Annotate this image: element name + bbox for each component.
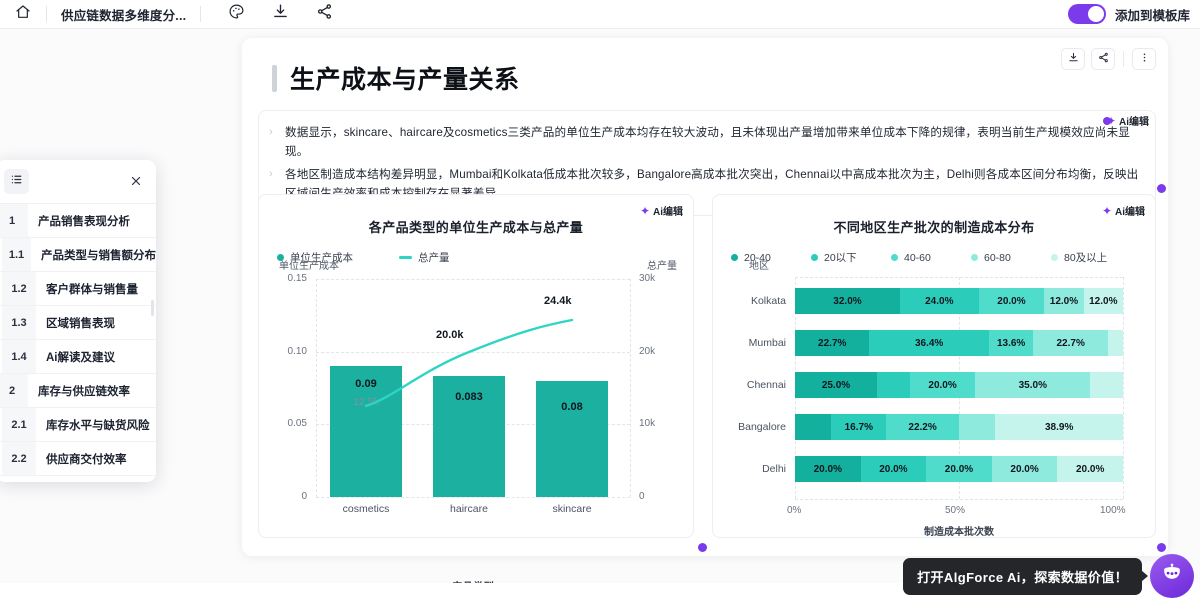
more-icon — [1139, 50, 1150, 68]
sparkle-icon: ✦ — [1102, 205, 1112, 217]
outline-item-2[interactable]: 2 库存与供应链效率 — [0, 374, 156, 408]
stacked-row-kolkata[interactable]: Kolkata 32.0% 24.0% 20.0% 12.0% 12.0% — [795, 288, 1123, 314]
x-tick-0: 0% — [787, 505, 801, 516]
outline-number: 1.2 — [2, 272, 36, 305]
legend-item-40-60[interactable]: 40-60 — [891, 252, 971, 264]
share-icon — [316, 3, 333, 25]
ai-edit-label: Ai编辑 — [1115, 203, 1145, 218]
outline-panel: 1 产品销售表现分析 1.1 产品类型与销售额分布 1.2 客户群体与销售量 1… — [0, 160, 156, 482]
y-tick-right: 20k — [630, 346, 655, 357]
outline-menu-button[interactable] — [4, 169, 29, 194]
share-icon — [1098, 50, 1109, 68]
home-icon — [15, 4, 31, 25]
list-icon — [10, 173, 23, 191]
outline-number: 1.3 — [2, 306, 36, 339]
segment[interactable]: 16.7% — [831, 414, 886, 440]
home-button[interactable] — [0, 4, 46, 25]
y-tick-left: 0 — [301, 491, 316, 502]
legend-item-total-output[interactable]: 总产量 — [399, 250, 450, 265]
sparkle-icon: ✦ — [640, 205, 650, 217]
divider — [1123, 51, 1124, 67]
legend-item-80-plus[interactable]: 80及以上 — [1051, 250, 1107, 265]
y-axis-right-title: 总产量 — [647, 257, 677, 272]
download-icon — [1068, 50, 1079, 68]
legend-dot-icon — [891, 254, 898, 261]
assistant-avatar-button[interactable] — [1150, 554, 1194, 598]
segment[interactable]: 24.0% — [900, 288, 979, 314]
x-axis-title: 制造成本批次数 — [795, 523, 1123, 538]
segment[interactable]: 32.0% — [795, 288, 900, 314]
row-label: Mumbai — [749, 330, 795, 356]
x-tick-skincare: skincare — [522, 503, 622, 515]
outline-label: 区域销售表现 — [36, 315, 115, 331]
legend-dot-icon — [731, 254, 738, 261]
gridline — [1123, 277, 1124, 499]
chart-title: 各产品类型的单位生产成本与总产量 — [259, 217, 693, 236]
legend-dot-icon — [1051, 254, 1058, 261]
legend-dot-icon — [811, 254, 818, 261]
segment[interactable]: 20.0% — [992, 456, 1058, 482]
ai-edit-badge[interactable]: ✦ Ai编辑 — [1106, 113, 1149, 128]
segment[interactable]: 12.0% — [1084, 288, 1123, 314]
row-label: Delhi — [762, 456, 795, 482]
segment[interactable]: 38.9% — [995, 414, 1123, 440]
resize-handle-summary[interactable] — [1103, 117, 1111, 125]
card-download-button[interactable] — [1061, 48, 1085, 70]
ai-edit-label: Ai编辑 — [1119, 113, 1149, 128]
outline-close-button[interactable] — [130, 175, 142, 189]
legend-dot-icon — [971, 254, 978, 261]
robot-icon — [1158, 560, 1186, 593]
page-title: 生产成本与产量关系 — [290, 60, 520, 96]
close-icon — [130, 174, 142, 190]
ai-edit-label: Ai编辑 — [653, 203, 683, 218]
legend-item-60-80[interactable]: 60-80 — [971, 252, 1051, 264]
topbar-icon-group — [201, 5, 333, 23]
outline-number: 2 — [0, 374, 28, 407]
chevron-right-icon[interactable]: › — [263, 165, 279, 184]
outline-label: 产品销售表现分析 — [28, 213, 130, 229]
y-tick-right: 0 — [630, 491, 645, 502]
outline-header — [0, 160, 156, 204]
outline-number: 2.1 — [2, 408, 36, 441]
chart-title: 不同地区生产批次的制造成本分布 — [713, 217, 1155, 236]
chart-panel-production-cost: ✦ Ai编辑 各产品类型的单位生产成本与总产量 单位生产成本 总产量 单位生产成… — [258, 194, 694, 538]
line-series-total-output — [316, 279, 630, 497]
outline-item-1[interactable]: 1 产品销售表现分析 — [0, 204, 156, 238]
y-tick-left: 0.05 — [288, 418, 316, 429]
x-tick-haircare: haircare — [419, 503, 519, 515]
outline-number: 2.2 — [2, 442, 36, 475]
palette-icon — [228, 3, 245, 25]
x-tick-50: 50% — [945, 505, 965, 516]
segment[interactable]: 36.4% — [869, 330, 988, 356]
y-tick-left: 0.15 — [288, 273, 316, 284]
outline-scrollbar[interactable] — [151, 300, 154, 316]
outline-label: 客户群体与销售量 — [36, 281, 138, 297]
card-more-button[interactable] — [1132, 48, 1156, 70]
segment[interactable]: 22.7% — [795, 330, 869, 356]
row-label: Kolkata — [751, 288, 795, 314]
resize-handle-bottom-right[interactable] — [1157, 543, 1166, 552]
ai-edit-badge[interactable]: ✦ Ai编辑 — [640, 203, 683, 218]
chart-plot-area: Kolkata 32.0% 24.0% 20.0% 12.0% 12.0% Mu… — [795, 277, 1123, 499]
add-to-template-toggle[interactable] — [1068, 4, 1106, 24]
segment[interactable] — [959, 414, 995, 440]
legend-label: 60-80 — [984, 252, 1011, 264]
card-share-button[interactable] — [1091, 48, 1115, 70]
outline-item-1-2[interactable]: 1.2 客户群体与销售量 — [0, 272, 156, 306]
legend-label: 80及以上 — [1064, 250, 1107, 265]
summary-text: 数据显示，skincare、haircare及cosmetics三类产品的单位生… — [285, 123, 1141, 161]
y-tick-left: 0.10 — [288, 346, 316, 357]
outline-item-2-2[interactable]: 2.2 供应商交付效率 — [0, 442, 156, 476]
chart-plot-area: 0.15 0.10 0.05 0 30k 20k 10k 0 0.09 12.5… — [316, 279, 630, 497]
segment[interactable]: 13.6% — [989, 330, 1034, 356]
stacked-row-bangalore[interactable]: Bangalore 16.7% 22.2% 38.9% — [795, 414, 1123, 440]
resize-handle-right[interactable] — [1157, 184, 1166, 193]
row-label: Chennai — [747, 372, 795, 398]
outline-label: Ai解读及建议 — [36, 349, 115, 365]
x-tick-cosmetics: cosmetics — [316, 503, 416, 515]
outline-number: 1 — [0, 204, 28, 237]
download-button[interactable] — [271, 5, 289, 23]
add-to-template-label: 添加到模板库 — [1115, 5, 1190, 24]
outline-item-1-1[interactable]: 1.1 产品类型与销售额分布 — [0, 238, 156, 272]
gridline — [795, 277, 1123, 278]
segment[interactable]: 20.0% — [795, 456, 861, 482]
assistant-cta: 打开AlgForce Ai，探索数据价值！ — [903, 554, 1194, 598]
legend-item-under-20[interactable]: 20以下 — [811, 250, 891, 265]
share-button[interactable] — [315, 5, 333, 23]
outline-item-1-4[interactable]: 1.4 Ai解读及建议 — [0, 340, 156, 374]
download-icon — [272, 3, 289, 25]
segment[interactable]: 20.0% — [910, 372, 976, 398]
chevron-right-icon[interactable]: › — [263, 123, 279, 142]
title-accent-bar — [272, 65, 277, 92]
summary-paragraph: › 数据显示，skincare、haircare及cosmetics三类产品的单… — [263, 121, 1141, 163]
segment[interactable]: 20.0% — [979, 288, 1045, 314]
y-tick-right: 10k — [630, 418, 655, 429]
segment[interactable] — [1090, 372, 1123, 398]
segment[interactable]: 12.0% — [1044, 288, 1083, 314]
stacked-row-chennai[interactable]: Chennai 25.0% 20.0% 35.0% — [795, 372, 1123, 398]
gridline — [630, 279, 631, 497]
legend-label: 总产量 — [418, 250, 450, 265]
segment[interactable]: 20.0% — [1057, 456, 1123, 482]
y-axis-title: 地区 — [749, 257, 769, 272]
assistant-message[interactable]: 打开AlgForce Ai，探索数据价值！ — [903, 558, 1142, 595]
top-bar: 供应链数据多维度分... — [0, 0, 1200, 29]
legend-label: 40-60 — [904, 252, 931, 264]
row-label: Bangalore — [738, 414, 795, 440]
gridline — [316, 497, 630, 498]
legend-item-20-40[interactable]: 20-40 — [731, 252, 811, 264]
segment[interactable]: 25.0% — [795, 372, 877, 398]
line-label-skincare: 24.4k — [544, 295, 572, 307]
page-title-wrap: 生产成本与产量关系 — [242, 38, 1168, 96]
outline-item-1-3[interactable]: 1.3 区域销售表现 — [0, 306, 156, 340]
segment[interactable]: 20.0% — [861, 456, 927, 482]
segment[interactable]: 20.0% — [926, 456, 992, 482]
line-label-haircare: 20.0k — [436, 329, 464, 341]
outline-item-2-1[interactable]: 2.1 库存水平与缺货风险 — [0, 408, 156, 442]
document-title[interactable]: 供应链数据多维度分... — [47, 5, 200, 24]
stacked-row-mumbai[interactable]: Mumbai 22.7% 36.4% 13.6% 22.7% — [795, 330, 1123, 356]
y-axis-left-title: 单位生产成本 — [279, 257, 339, 272]
outline-label: 产品类型与销售额分布 — [31, 247, 156, 263]
outline-list[interactable]: 1 产品销售表现分析 1.1 产品类型与销售额分布 1.2 客户群体与销售量 1… — [0, 204, 156, 482]
x-tick-100: 100% — [1100, 505, 1126, 516]
stacked-row-delhi[interactable]: Delhi 20.0% 20.0% 20.0% 20.0% 20.0% — [795, 456, 1123, 482]
legend-line-icon — [399, 256, 412, 259]
chart-legend: 20-40 20以下 40-60 60-80 80及以上 — [713, 250, 1155, 265]
segment[interactable] — [795, 414, 831, 440]
ai-edit-badge[interactable]: ✦ Ai编辑 — [1102, 203, 1145, 218]
chart-panel-cost-distribution: ✦ Ai编辑 不同地区生产批次的制造成本分布 20-40 20以下 40-60 … — [712, 194, 1156, 538]
palette-button[interactable] — [227, 5, 245, 23]
segment[interactable]: 35.0% — [975, 372, 1090, 398]
outline-label: 库存水平与缺货风险 — [36, 417, 150, 433]
segment[interactable] — [1108, 330, 1123, 356]
outline-label: 供应商交付效率 — [36, 451, 127, 467]
outline-number: 1.4 — [2, 340, 36, 373]
card-toolbar — [1061, 48, 1156, 70]
segment[interactable]: 22.7% — [1033, 330, 1107, 356]
gridline — [795, 499, 1123, 500]
segment[interactable] — [877, 372, 910, 398]
template-toggle-group: 添加到模板库 — [1068, 4, 1200, 24]
segment[interactable]: 22.2% — [886, 414, 959, 440]
outline-label: 库存与供应链效率 — [28, 383, 130, 399]
y-tick-right: 30k — [630, 273, 655, 284]
resize-handle-bottom-left[interactable] — [698, 543, 707, 552]
legend-label: 20以下 — [824, 250, 857, 265]
outline-number: 1.1 — [2, 238, 31, 271]
